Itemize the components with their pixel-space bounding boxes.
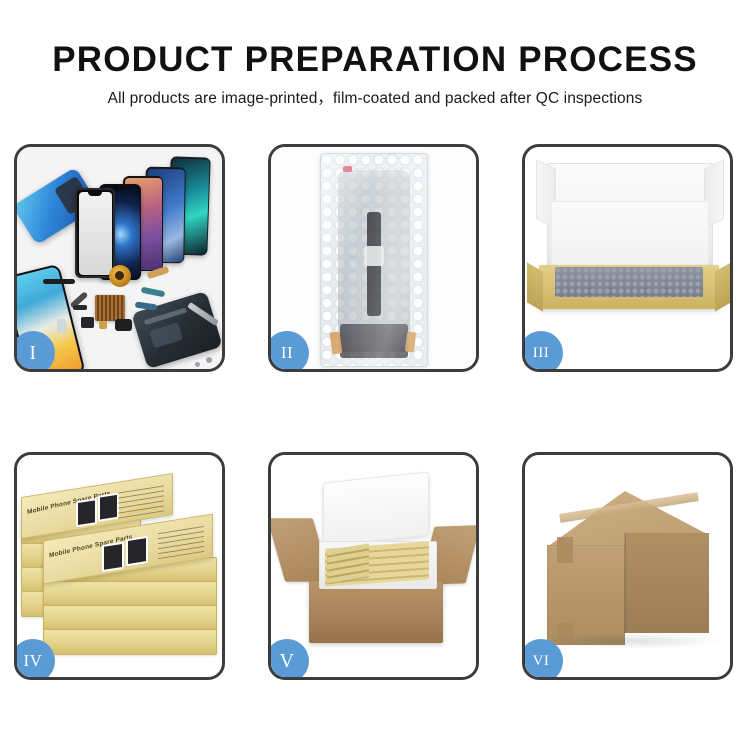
small-component-icon [99, 321, 107, 329]
carton-tape-icon [557, 537, 573, 563]
sealed-carton-icon [535, 473, 725, 653]
small-component-icon [73, 305, 87, 310]
box-product-thumbnail [98, 493, 119, 522]
chip-array-icon [95, 295, 125, 321]
foam-packing-fill-icon [555, 267, 703, 297]
carton-shadow [543, 633, 723, 649]
small-component-icon [81, 317, 94, 328]
speaker-coil-icon [109, 265, 131, 287]
box-stack: Mobile Phone Spare Parts Mobile Phone Sp… [21, 473, 221, 669]
step-number-badge: V [268, 639, 309, 680]
box-spec-lines [118, 483, 164, 518]
step-panel-6[interactable]: VI [522, 452, 733, 680]
carton-body [309, 581, 443, 643]
carton-right-face [625, 533, 709, 633]
stacked-box [43, 581, 217, 607]
page-subtitle: All products are image-printed，film-coat… [0, 86, 750, 108]
step-number-badge: VI [522, 639, 563, 680]
screw-icon [195, 362, 200, 367]
step-panel-2[interactable]: II [268, 144, 479, 372]
step-number-badge: II [268, 331, 309, 372]
box-spec-lines [158, 524, 204, 559]
steps-grid: I II [14, 144, 736, 680]
step-number-badge: I [14, 331, 55, 372]
step-number-badge: III [522, 331, 563, 372]
step-panel-5[interactable]: V [268, 452, 479, 680]
small-component-icon [115, 319, 132, 331]
step-number-badge: IV [14, 639, 55, 680]
glass-panel-icon [75, 188, 115, 278]
box-product-thumbnail [102, 542, 124, 572]
foam-sheet-icon [551, 201, 709, 275]
step-panel-1[interactable]: I [14, 144, 225, 372]
carton-edge [624, 533, 626, 633]
product-preparation-infographic: PRODUCT PREPARATION PROCESS All products… [0, 0, 750, 750]
foam-lid-open-icon [323, 471, 429, 546]
step-panel-4[interactable]: Mobile Phone Spare Parts Mobile Phone Sp… [14, 452, 225, 680]
step-panel-3[interactable]: III [522, 144, 733, 372]
bubble-wrap-bag-icon [320, 153, 428, 367]
plastic-sheen [321, 154, 427, 366]
stacked-box [43, 605, 217, 631]
stacked-box [43, 629, 217, 655]
box-product-thumbnail [76, 498, 97, 527]
page-title: PRODUCT PREPARATION PROCESS [0, 42, 750, 77]
small-component-icon [57, 319, 66, 333]
box-product-thumbnail [126, 536, 148, 566]
screw-icon [206, 357, 212, 363]
flex-cable-icon [43, 279, 75, 284]
